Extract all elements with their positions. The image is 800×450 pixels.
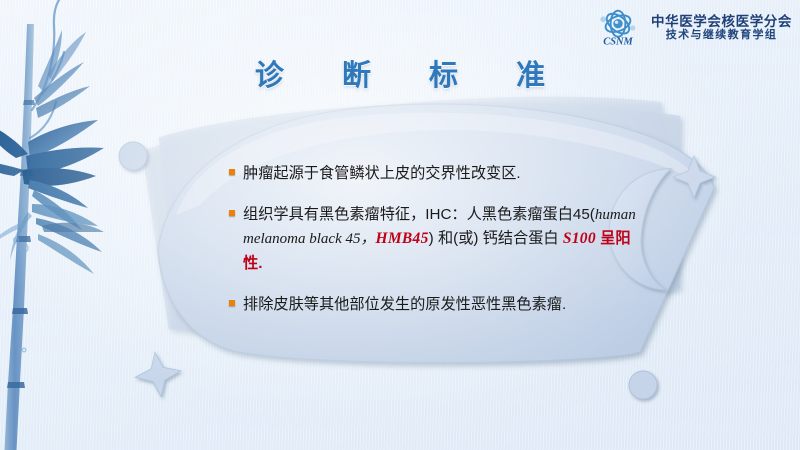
bullet-2-emphasis-s100: S100	[563, 230, 596, 247]
svg-text:CSNM: CSNM	[603, 36, 633, 47]
slide-canvas: CSNM 中华医学会核医学分会 技术与继续教育学组 诊 断 标 准 肿瘤起源于食…	[0, 0, 800, 450]
logo-org-line2: 技术与继续教育学组	[651, 29, 792, 41]
bullet-3-text: 排除皮肤等其他部位发生的原发性恶性黑色素瘤.	[243, 296, 566, 313]
list-item: 组织学具有黑色素瘤特征，IHC：人黑色素瘤蛋白45(human melanoma…	[228, 203, 646, 277]
content-body: 肿瘤起源于食管鳞状上皮的交界性改变区. 组织学具有黑色素瘤特征，IHC：人黑色素…	[228, 162, 646, 318]
bullet-2-part1: 组织学具有黑色素瘤特征，IHC：人黑色素瘤蛋白45(	[243, 206, 595, 223]
organization-logo: CSNM 中华医学会核医学分会 技术与继续教育学组	[592, 6, 792, 50]
page-title: 诊 断 标 准	[0, 52, 800, 94]
logo-org-line1: 中华医学会核医学分会	[651, 14, 792, 29]
bullet-2-emphasis-hmb45: HMB45	[375, 230, 428, 247]
circle-dot-lower-right	[629, 371, 657, 399]
bullet-2-part2: ) 和(或) 钙结合蛋白	[429, 230, 563, 247]
list-item: 排除皮肤等其他部位发生的原发性恶性黑色素瘤.	[228, 293, 646, 318]
bullet-1-text: 肿瘤起源于食管鳞状上皮的交界性改变区.	[243, 165, 521, 182]
four-point-star-small	[132, 349, 184, 400]
list-item: 肿瘤起源于食管鳞状上皮的交界性改变区.	[228, 162, 646, 187]
csnm-logo-icon: CSNM	[592, 7, 644, 49]
